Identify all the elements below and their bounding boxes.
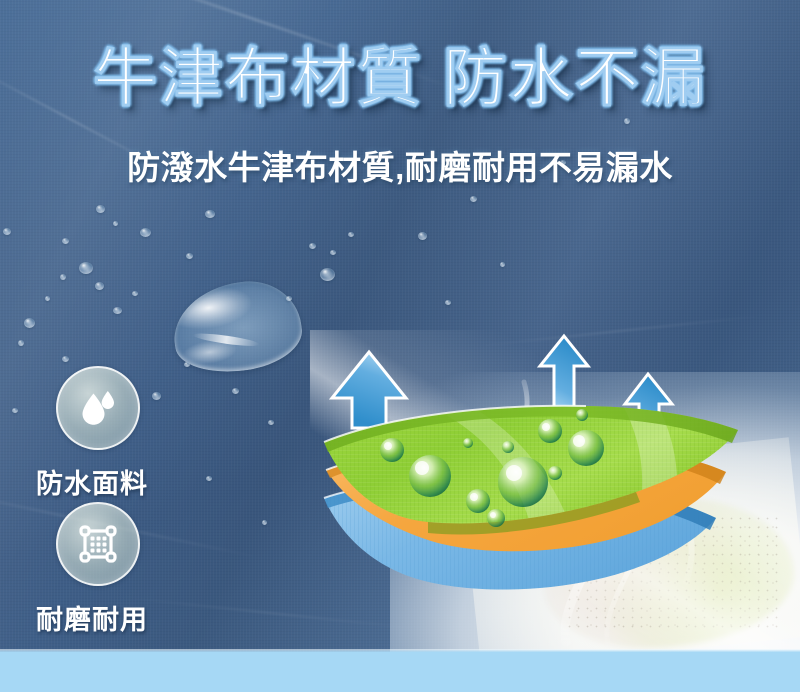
water-droplet [12, 408, 18, 413]
bottom-accent-strip [0, 652, 800, 692]
fabric-layers-illustration [318, 330, 800, 660]
water-droplet [205, 210, 215, 218]
page-title: 牛津布材質 防水不漏 [0, 44, 800, 113]
fabric-mesh-icon [73, 519, 123, 569]
water-droplet [95, 282, 104, 290]
feature-waterproof: 防水面料 [36, 366, 148, 501]
page-subtitle: 防潑水牛津布材質,耐磨耐用不易漏水 [0, 148, 800, 188]
water-drop-icon [73, 383, 123, 433]
water-droplet [24, 318, 35, 328]
feature-durable: 耐磨耐用 [36, 502, 148, 637]
water-droplet [79, 262, 93, 274]
feature-badge-circle [56, 366, 140, 450]
water-droplet [132, 291, 138, 296]
feature-label-waterproof: 防水面料 [36, 462, 148, 501]
water-droplet [624, 118, 630, 124]
water-droplet [3, 228, 11, 235]
water-droplet [445, 300, 451, 305]
water-droplet [286, 296, 292, 301]
water-droplet [320, 268, 335, 281]
water-droplet [184, 362, 190, 367]
water-droplet [348, 232, 354, 237]
water-droplet [262, 520, 267, 525]
water-droplet [113, 307, 122, 314]
water-droplet [470, 196, 477, 202]
feature-badge-circle [56, 502, 140, 586]
feature-label-durable: 耐磨耐用 [36, 598, 148, 637]
water-droplet [152, 392, 161, 400]
water-droplet [62, 356, 69, 362]
product-feature-banner: 牛津布材質 防水不漏 防潑水牛津布材質,耐磨耐用不易漏水 防水面料 [0, 0, 800, 692]
water-droplet [206, 476, 212, 481]
water-droplet [140, 228, 151, 237]
water-droplet [232, 388, 239, 394]
breathability-arrow-center [540, 336, 588, 412]
water-droplet [60, 274, 66, 280]
water-droplet [418, 232, 427, 240]
water-droplet [500, 262, 505, 267]
breathability-arrow-left [332, 352, 406, 428]
water-droplet [113, 221, 118, 226]
water-droplet [96, 205, 105, 213]
water-droplet [330, 250, 336, 255]
water-droplet [186, 253, 193, 259]
water-droplet [45, 296, 50, 301]
water-droplet [62, 238, 69, 244]
water-droplet [18, 340, 24, 346]
water-droplet [309, 243, 316, 249]
water-droplet [268, 420, 274, 425]
